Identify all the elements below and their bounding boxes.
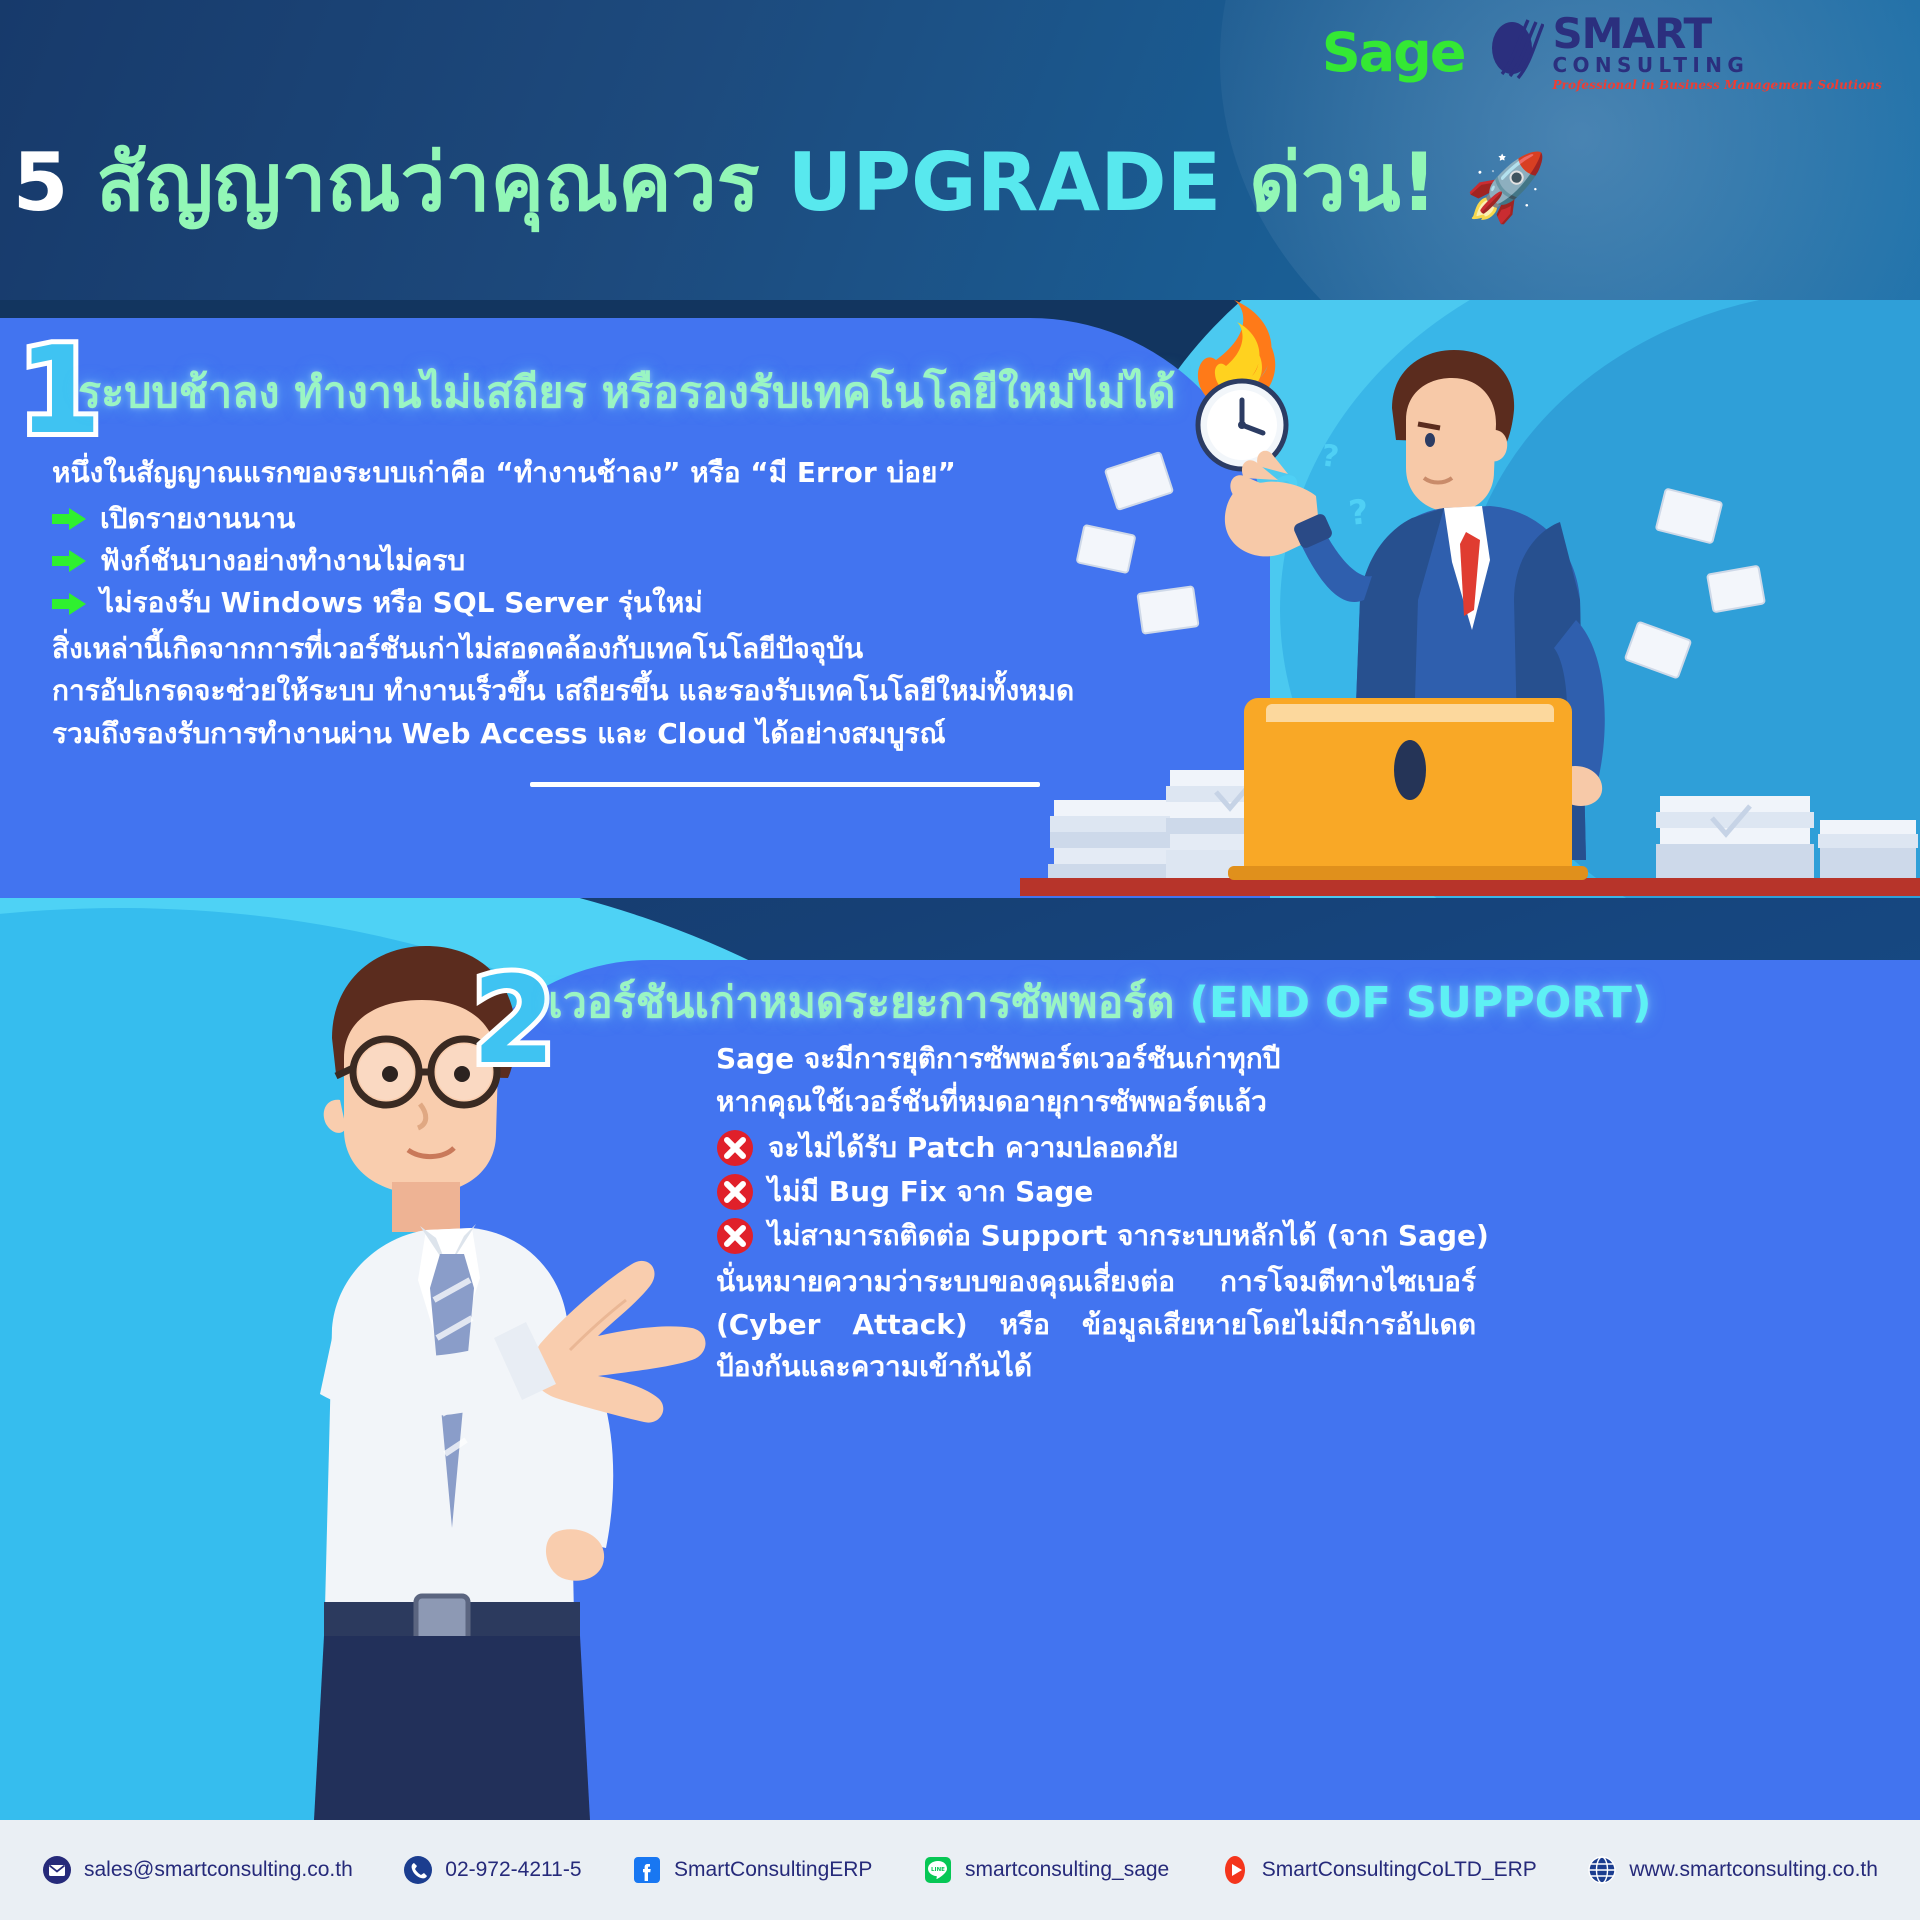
footer-label-line: smartconsulting_sage [965, 1858, 1169, 1882]
footer-contact-bar: sales@smartconsulting.co.th 02-972-4211-… [0, 1820, 1920, 1920]
list-item-label: ฟังก์ชันบางอย่างทำงานไม่ครบ [100, 543, 465, 579]
red-x-icon [716, 1173, 754, 1211]
title-thai-2: ด่วน! [1249, 136, 1437, 229]
email-icon [42, 1855, 72, 1885]
list-item: ไม่รองรับ Windows หรือ SQL Server รุ่นให… [52, 585, 1012, 621]
top-banner: Sage SMART CONSULTING Professional in Bu… [0, 0, 1920, 300]
section-2-heading: เวอร์ชันเก่าหมดระยะการซัพพอร์ต (END OF S… [548, 968, 1652, 1036]
sage-logo: Sage [1322, 26, 1465, 80]
section-1-outro-line-1: สิ่งเหล่านี้เกิดจากการที่เวอร์ชันเก่าไม่… [52, 628, 1012, 671]
list-item-label: เปิดรายงานนาน [100, 501, 295, 537]
list-item: ไม่มี Bug Fix จาก Sage [716, 1173, 1476, 1211]
section-2-outro: นั่นหมายความว่าระบบของคุณเสี่ยงต่อ การโจ… [716, 1261, 1476, 1389]
list-item: ไม่สามารถติดต่อ Support จากระบบหลักได้ (… [716, 1217, 1476, 1255]
list-item-label: ไม่สามารถติดต่อ Support จากระบบหลักได้ (… [768, 1218, 1489, 1254]
svg-text:LINE: LINE [931, 1867, 945, 1873]
section-1-divider [530, 782, 1040, 787]
section-2-intro-line-2: หากคุณใช้เวอร์ชันที่หมดอายุการซัพพอร์ตแล… [716, 1081, 1476, 1124]
section-1-outro-line-3: รวมถึงรองรับการทำงานผ่าน Web Access และ … [52, 713, 1012, 756]
section-1-heading: ระบบช้าลง ทำงานไม่เสถียร หรือรองรับเทคโน… [78, 358, 1175, 426]
section-2-number: 2 [472, 952, 556, 1091]
page-title: 5 สัญญาณว่าคุณควร UPGRADE ด่วน! 🚀 [0, 138, 1560, 228]
phone-icon [403, 1855, 433, 1885]
red-x-icon [716, 1217, 754, 1255]
globe-icon [1587, 1855, 1617, 1885]
footer-label-email: sales@smartconsulting.co.th [84, 1858, 353, 1882]
footer-label-facebook: SmartConsultingERP [674, 1858, 872, 1882]
footer-item-youtube[interactable]: SmartConsultingCoLTD_ERP [1220, 1855, 1537, 1885]
youtube-icon [1220, 1855, 1250, 1885]
footer-label-website: www.smartconsulting.co.th [1629, 1858, 1878, 1882]
section-1-body: หนึ่งในสัญญาณแรกของระบบเก่าคือ “ทำงานช้า… [52, 452, 1012, 755]
footer-item-website[interactable]: www.smartconsulting.co.th [1587, 1855, 1878, 1885]
smart-logo-tagline: Professional in Business Management Solu… [1552, 78, 1882, 92]
section-1-intro: หนึ่งในสัญญาณแรกของระบบเก่าคือ “ทำงานช้า… [52, 452, 1012, 495]
footer-label-phone: 02-972-4211-5 [445, 1858, 581, 1882]
green-arrow-icon [52, 549, 86, 573]
smart-logo-top: SMART [1552, 14, 1882, 54]
red-x-icon [716, 1129, 754, 1167]
green-arrow-icon [52, 592, 86, 616]
section-2-heading-english: (END OF SUPPORT) [1189, 978, 1651, 1028]
footer-item-phone[interactable]: 02-972-4211-5 [403, 1855, 581, 1885]
burning-clock-icon [1198, 300, 1286, 469]
footer-label-youtube: SmartConsultingCoLTD_ERP [1262, 1858, 1537, 1882]
list-item-label: จะไม่ได้รับ Patch ความปลอดภัย [768, 1130, 1179, 1166]
section-2-intro-line-1: Sage จะมีการยุติการซัพพอร์ตเวอร์ชันเก่าท… [716, 1038, 1476, 1081]
section-2-bullet-list: จะไม่ได้รับ Patch ความปลอดภัย ไม่มี Bug … [716, 1129, 1476, 1255]
section-2-body: Sage จะมีการยุติการซัพพอร์ตเวอร์ชันเก่าท… [716, 1038, 1476, 1389]
logo-group: Sage SMART CONSULTING Professional in Bu… [1322, 14, 1882, 92]
line-icon: LINE [923, 1855, 953, 1885]
list-item-label: ไม่รองรับ Windows หรือ SQL Server รุ่นให… [100, 585, 703, 621]
pointing-hand-icon [531, 1261, 705, 1423]
list-item: จะไม่ได้รับ Patch ความปลอดภัย [716, 1129, 1476, 1167]
facebook-icon [632, 1855, 662, 1885]
section-2-heading-thai: เวอร์ชันเก่าหมดระยะการซัพพอร์ต [548, 978, 1174, 1028]
footer-item-facebook[interactable]: SmartConsultingERP [632, 1855, 872, 1885]
list-item: เปิดรายงานนาน [52, 501, 1012, 537]
svg-text:?: ? [1319, 438, 1341, 475]
footer-item-line[interactable]: LINE smartconsulting_sage [923, 1855, 1169, 1885]
laptop-illustration [1228, 698, 1588, 880]
title-number: 5 [13, 136, 69, 229]
rocket-icon: 🚀 [1465, 149, 1547, 226]
green-arrow-icon [52, 507, 86, 531]
title-thai: สัญญาณว่าคุณควร [96, 136, 759, 229]
infographic-page: Sage SMART CONSULTING Professional in Bu… [0, 0, 1920, 1920]
list-item-label: ไม่มี Bug Fix จาก Sage [768, 1174, 1093, 1210]
smart-consulting-logo: SMART CONSULTING Professional in Busines… [1488, 14, 1882, 92]
title-english: UPGRADE [787, 136, 1221, 229]
footer-item-email[interactable]: sales@smartconsulting.co.th [42, 1855, 353, 1885]
section-1-outro-line-2: การอัปเกรดจะช่วยให้ระบบ ทำงานเร็วขึ้น เส… [52, 670, 1012, 713]
section-1-bullet-list: เปิดรายงานนาน ฟังก์ชันบางอย่างทำงานไม่คร… [52, 501, 1012, 622]
svg-text:?: ? [1347, 492, 1371, 534]
list-item: ฟังก์ชันบางอย่างทำงานไม่ครบ [52, 543, 1012, 579]
smart-logo-bottom: CONSULTING [1552, 54, 1882, 76]
smart-wave-mark-icon [1488, 14, 1544, 84]
